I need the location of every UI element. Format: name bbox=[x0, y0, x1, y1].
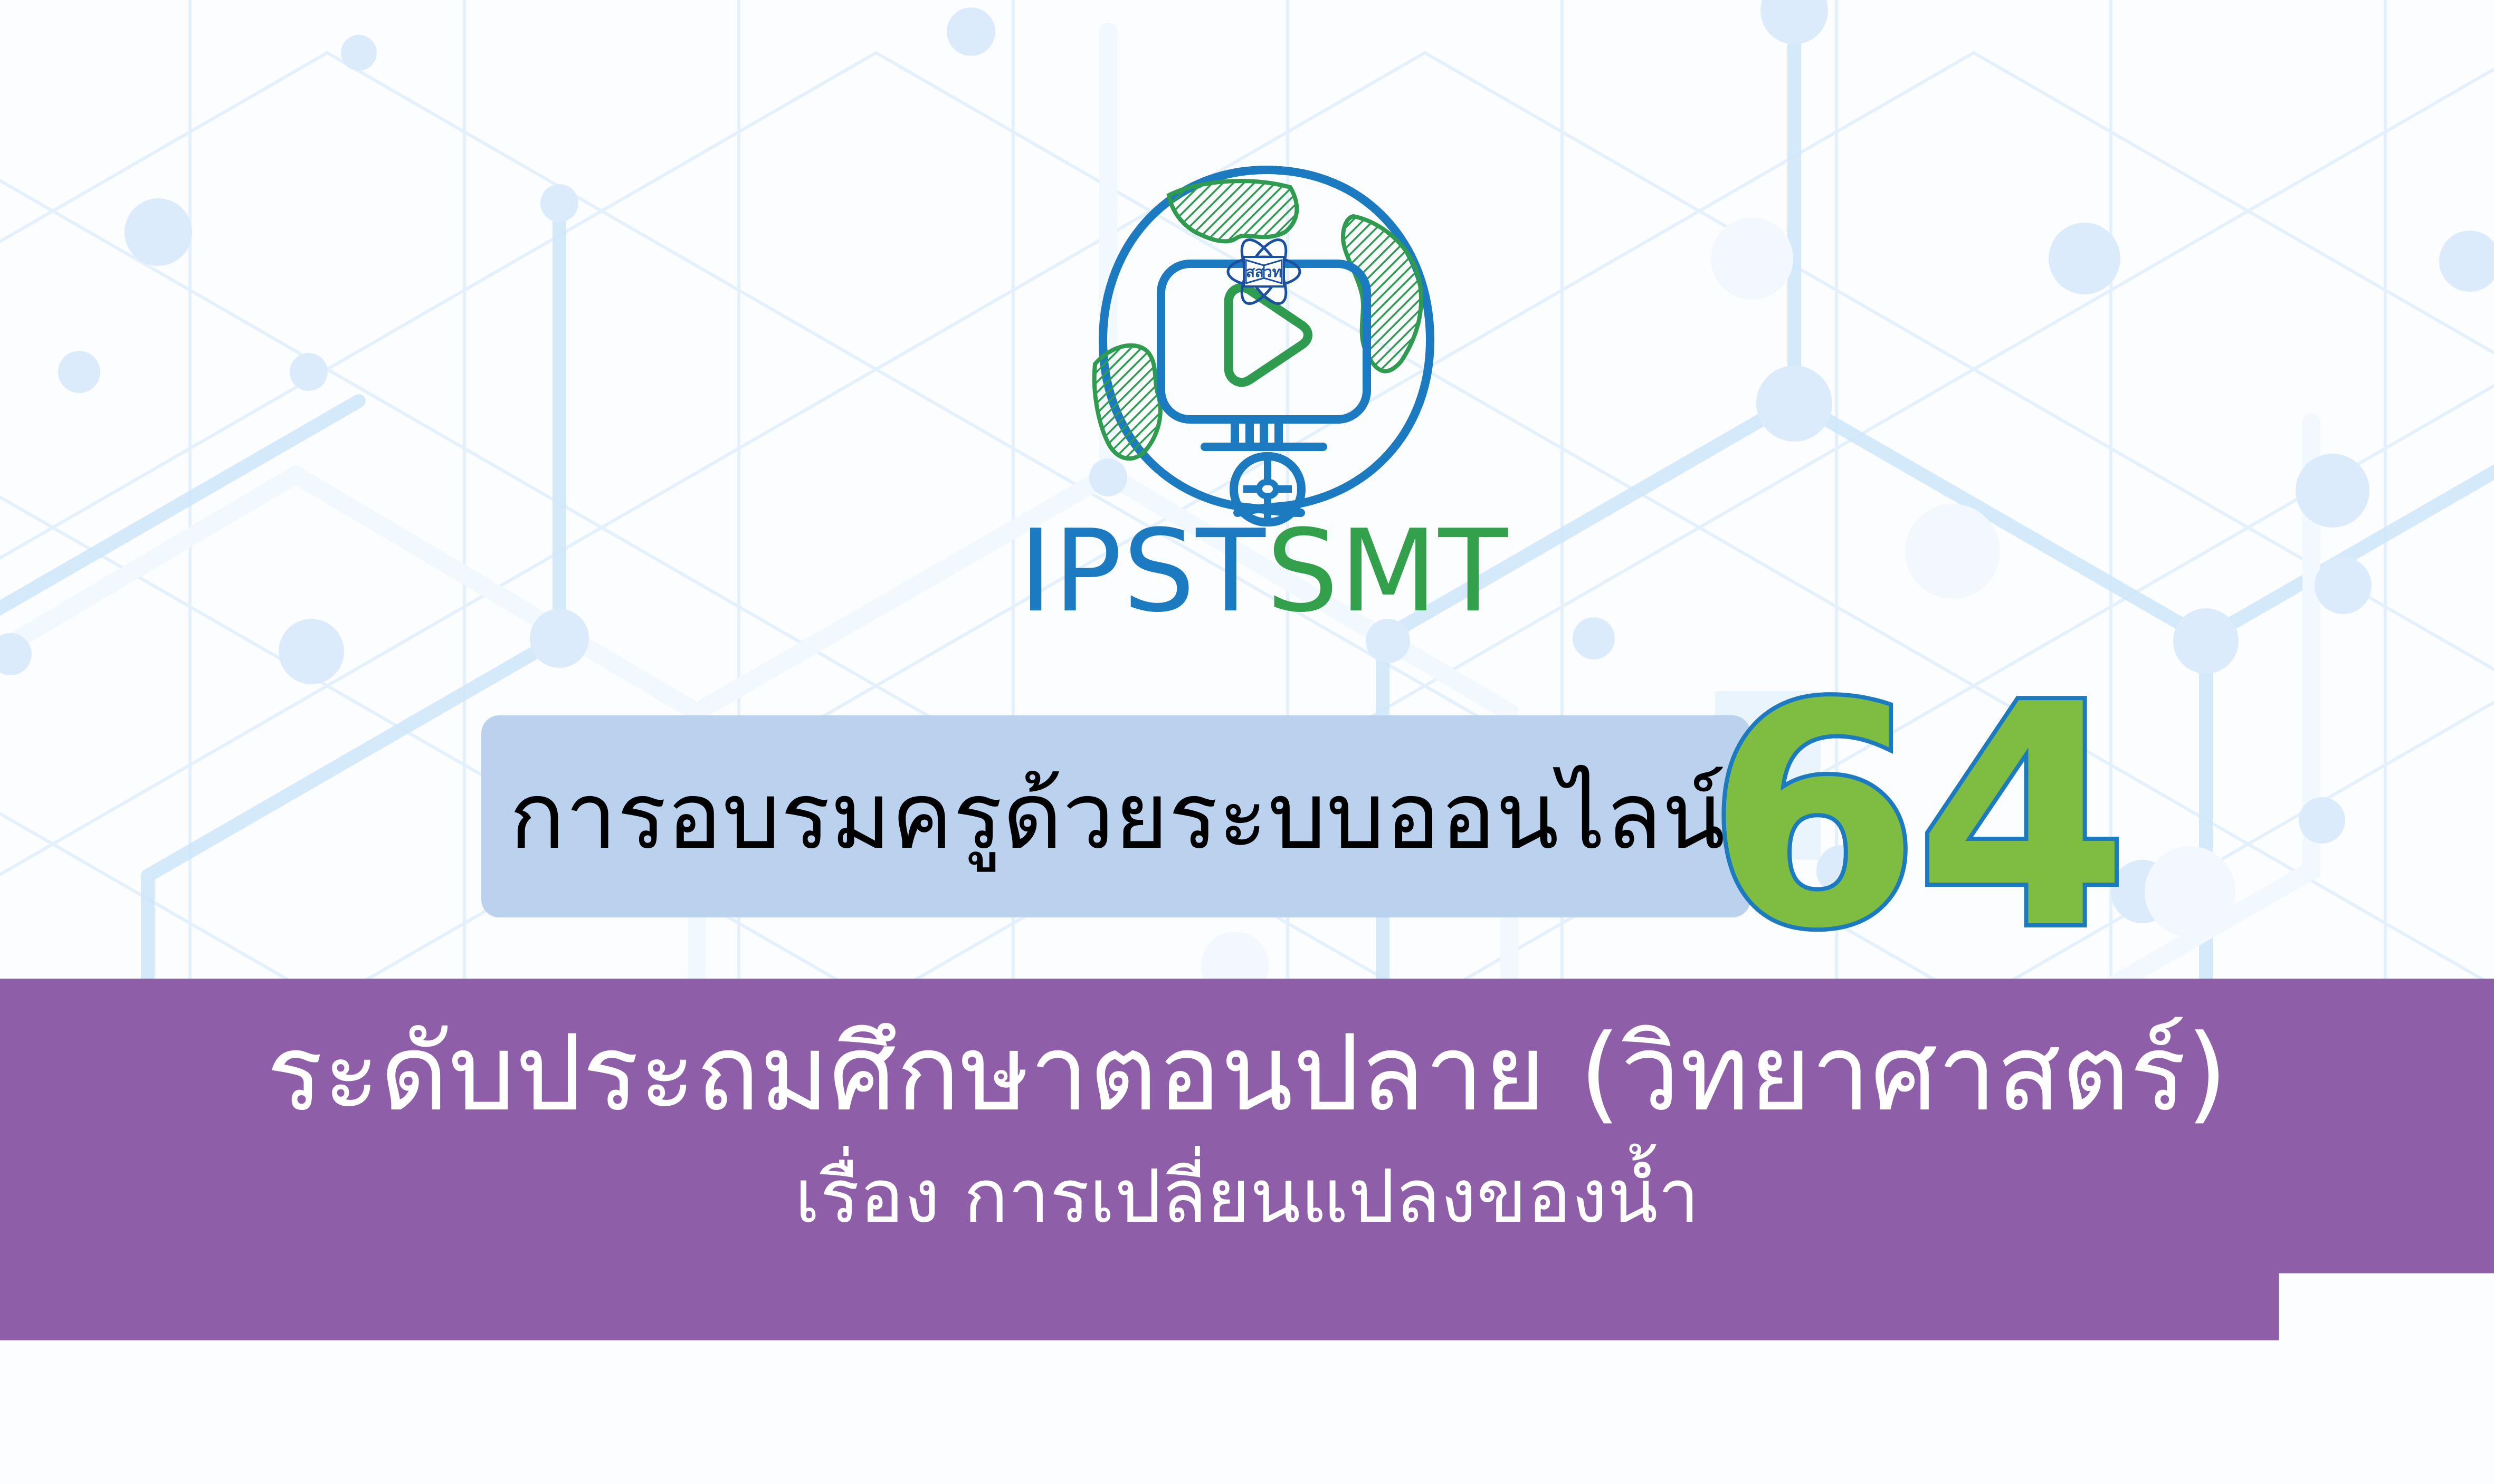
ipst-smt-globe-monitor-logo: สสวท bbox=[1079, 158, 1449, 528]
level-footer-band: ระดับประถมศึกษาตอนปลาย (วิทยาศาสตร์) เรื… bbox=[0, 979, 2494, 1484]
course-title-text: การอบรมครูด้วยระบบออนไลน์ bbox=[509, 768, 1725, 865]
logo-wordmark-smt: SMT bbox=[1267, 505, 1509, 637]
ipst-smt-logo: สสวท IPSTSMT bbox=[1034, 158, 1493, 686]
slide-canvas: สสวท IPSTSMT การอบรมครูด้วยระบบออนไลน์ 6… bbox=[0, 0, 2494, 1484]
topic-subtitle: เรื่อง การเปลี่ยนแปลงของน้ำ bbox=[795, 1149, 1700, 1245]
year-badge: 64 bbox=[1726, 636, 2106, 994]
logo-wordmark-ipst: IPST bbox=[1019, 505, 1267, 637]
svg-text:สสวท: สสวท bbox=[1246, 263, 1282, 281]
course-title-banner: การอบรมครูด้วยระบบออนไลน์ bbox=[481, 715, 1750, 917]
logo-wordmark: IPSTSMT bbox=[1019, 514, 1509, 628]
level-title: ระดับประถมศึกษาตอนปลาย (วิทยาศาสตร์) bbox=[266, 1008, 2228, 1140]
year-badge-value: 64 bbox=[1707, 639, 2124, 995]
